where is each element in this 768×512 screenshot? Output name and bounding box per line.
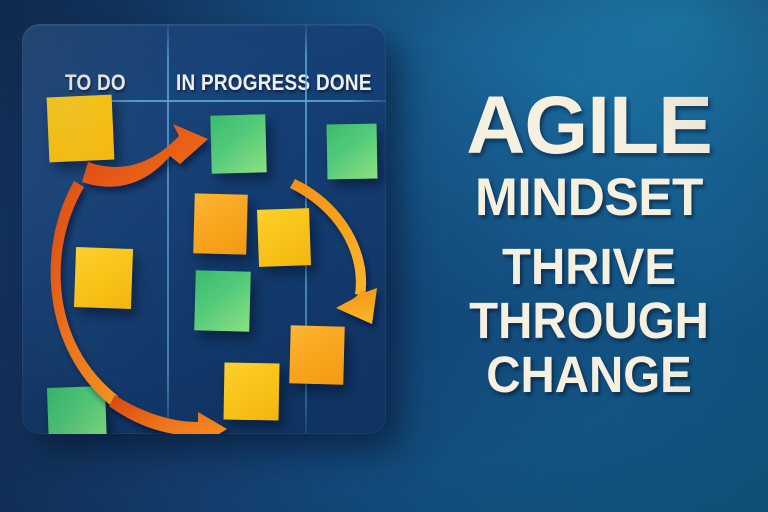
- poster-canvas: TO DO IN PROGRESS DONE: [0, 0, 768, 512]
- headline-line-mindset: MINDSET: [439, 172, 740, 224]
- sticky-note-yellow[interactable]: [257, 208, 311, 267]
- column-header-done: DONE: [316, 72, 372, 94]
- sticky-note-face: [210, 114, 266, 173]
- sticky-note-yellow[interactable]: [74, 247, 133, 309]
- sticky-note-orange[interactable]: [193, 193, 248, 254]
- column-header-todo: TO DO: [65, 72, 126, 94]
- headline-block: AGILE MINDSET THRIVE THROUGH CHANGE: [434, 86, 744, 400]
- column-divider-left: [167, 24, 169, 434]
- sticky-note-face: [47, 386, 107, 434]
- sticky-note-green[interactable]: [194, 270, 251, 331]
- sticky-note-face: [224, 363, 280, 421]
- kanban-board-panel: TO DO IN PROGRESS DONE: [22, 24, 386, 434]
- headline-line-through: THROUGH: [445, 296, 733, 346]
- sticky-note-green[interactable]: [47, 386, 107, 434]
- sticky-note-face: [194, 270, 251, 331]
- sticky-note-face: [47, 95, 115, 163]
- headline-line-agile: AGILE: [434, 86, 744, 166]
- sticky-note-orange[interactable]: [289, 325, 344, 384]
- sticky-note-yellow[interactable]: [224, 363, 280, 421]
- headline-line-change: CHANGE: [445, 350, 733, 400]
- sticky-note-green[interactable]: [210, 114, 266, 173]
- sticky-note-green[interactable]: [327, 124, 378, 180]
- sticky-note-face: [257, 208, 311, 267]
- sticky-note-face: [327, 124, 378, 180]
- sticky-note-face: [74, 247, 133, 309]
- sticky-note-yellow[interactable]: [47, 95, 115, 163]
- headline-line-thrive: THRIVE: [445, 242, 733, 292]
- column-header-in-progress: IN PROGRESS: [176, 72, 310, 94]
- sticky-note-face: [193, 193, 248, 254]
- sticky-note-face: [289, 325, 344, 384]
